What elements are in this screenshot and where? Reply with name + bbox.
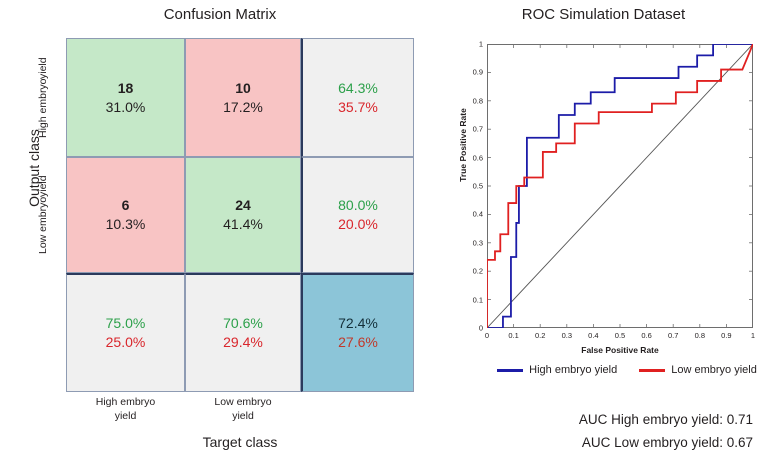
confusion-matrix-row-label-low-embryo-yield: Low embryoyield bbox=[24, 157, 64, 273]
roc-x-tick-label: 0.2 bbox=[535, 331, 545, 340]
roc-x-tick-label: 0.4 bbox=[588, 331, 598, 340]
roc-panel: ROC Simulation Dataset True Positive Rat… bbox=[440, 0, 767, 459]
roc-y-tick-label: 0 bbox=[479, 324, 483, 333]
confusion-matrix-cell-r2-c1: 70.6%29.4% bbox=[185, 273, 301, 392]
cell-percent: 41.4% bbox=[223, 215, 263, 234]
cell-correct-rate: 64.3% bbox=[338, 79, 378, 98]
confusion-matrix-panel: Confusion Matrix Output class High embry… bbox=[0, 0, 440, 459]
confusion-matrix-grid: 1831.0%1017.2%64.3%35.7%610.3%2441.4%80.… bbox=[66, 38, 414, 392]
roc-y-tick-label: 0.4 bbox=[473, 210, 483, 219]
confusion-matrix-cell-r0-c2: 64.3%35.7% bbox=[301, 38, 414, 157]
cell-error-rate: 35.7% bbox=[338, 98, 378, 117]
roc-x-tick-label: 0.9 bbox=[721, 331, 731, 340]
auc-low-embryo-yield: AUC Low embryo yield: 0.67 bbox=[440, 431, 753, 454]
roc-legend: High embryo yieldLow embryo yield bbox=[487, 364, 767, 376]
roc-x-tick-label: 0 bbox=[485, 331, 489, 340]
roc-x-tick-label: 0.7 bbox=[668, 331, 678, 340]
confusion-matrix-col-label-high-embryo-yield: High embryoyield bbox=[66, 396, 185, 423]
roc-x-tick-label: 0.5 bbox=[615, 331, 625, 340]
cell-error-rate: 29.4% bbox=[223, 333, 263, 352]
roc-y-tick-label: 1 bbox=[479, 40, 483, 49]
auc-high-embryo-yield: AUC High embryo yield: 0.71 bbox=[440, 408, 753, 431]
confusion-matrix-row-label-high-embryo-yield: High embryoyield bbox=[24, 38, 64, 157]
cell-error-rate: 27.6% bbox=[338, 333, 378, 352]
roc-legend-entry-low-embryo-yield: Low embryo yield bbox=[639, 364, 757, 376]
roc-x-tick-label: 0.6 bbox=[641, 331, 651, 340]
roc-plot-area: 00.10.20.30.40.50.60.70.80.9100.10.20.30… bbox=[487, 44, 753, 328]
roc-legend-swatch bbox=[497, 369, 523, 372]
cell-correct-rate: 80.0% bbox=[338, 196, 378, 215]
confusion-matrix-cell-r1-c2: 80.0%20.0% bbox=[301, 157, 414, 273]
cell-error-rate: 20.0% bbox=[338, 215, 378, 234]
roc-y-tick-label: 0.7 bbox=[473, 125, 483, 134]
cell-percent: 10.3% bbox=[106, 215, 146, 234]
roc-x-tick-label: 0.3 bbox=[562, 331, 572, 340]
confusion-matrix-x-axis-label: Target class bbox=[66, 434, 414, 450]
roc-y-tick-label: 0.3 bbox=[473, 238, 483, 247]
roc-x-tick-label: 0.1 bbox=[508, 331, 518, 340]
roc-x-axis-label: False Positive Rate bbox=[487, 345, 753, 355]
auc-summary-block: AUC High embryo yield: 0.71 AUC Low embr… bbox=[440, 408, 767, 454]
roc-y-tick-label: 0.9 bbox=[473, 68, 483, 77]
cell-percent: 17.2% bbox=[223, 98, 263, 117]
cell-correct-rate: 75.0% bbox=[106, 314, 146, 333]
confusion-matrix-cell-r2-c0: 75.0%25.0% bbox=[66, 273, 185, 392]
roc-x-tick-label: 1 bbox=[751, 331, 755, 340]
roc-legend-entry-high-embryo-yield: High embryo yield bbox=[497, 364, 617, 376]
cell-percent: 31.0% bbox=[106, 98, 146, 117]
cell-correct-rate: 72.4% bbox=[338, 314, 378, 333]
roc-x-tick-label: 0.8 bbox=[695, 331, 705, 340]
roc-y-axis-label: True Positive Rate bbox=[458, 85, 468, 205]
roc-legend-label: Low embryo yield bbox=[671, 364, 757, 376]
cell-count: 10 bbox=[235, 79, 251, 98]
confusion-matrix-col-label-low-embryo-yield: Low embryoyield bbox=[185, 396, 301, 423]
confusion-matrix-cell-r0-c0: 1831.0% bbox=[66, 38, 185, 157]
confusion-matrix-title: Confusion Matrix bbox=[0, 6, 440, 23]
roc-chart-title: ROC Simulation Dataset bbox=[440, 6, 767, 23]
confusion-matrix-cell-r1-c0: 610.3% bbox=[66, 157, 185, 273]
cell-count: 18 bbox=[118, 79, 134, 98]
roc-legend-label: High embryo yield bbox=[529, 364, 617, 376]
cell-correct-rate: 70.6% bbox=[223, 314, 263, 333]
roc-y-tick-label: 0.8 bbox=[473, 96, 483, 105]
confusion-matrix-cell-r0-c1: 1017.2% bbox=[185, 38, 301, 157]
cell-error-rate: 25.0% bbox=[106, 333, 146, 352]
roc-y-tick-label: 0.6 bbox=[473, 153, 483, 162]
roc-y-tick-label: 0.5 bbox=[473, 182, 483, 191]
confusion-matrix-cell-r1-c1: 2441.4% bbox=[185, 157, 301, 273]
roc-y-tick-label: 0.2 bbox=[473, 267, 483, 276]
roc-legend-swatch bbox=[639, 369, 665, 372]
confusion-matrix-cell-r2-c2: 72.4%27.6% bbox=[301, 273, 414, 392]
roc-curve-svg bbox=[487, 44, 753, 328]
roc-y-tick-label: 0.1 bbox=[473, 295, 483, 304]
cell-count: 24 bbox=[235, 196, 251, 215]
cell-count: 6 bbox=[122, 196, 130, 215]
